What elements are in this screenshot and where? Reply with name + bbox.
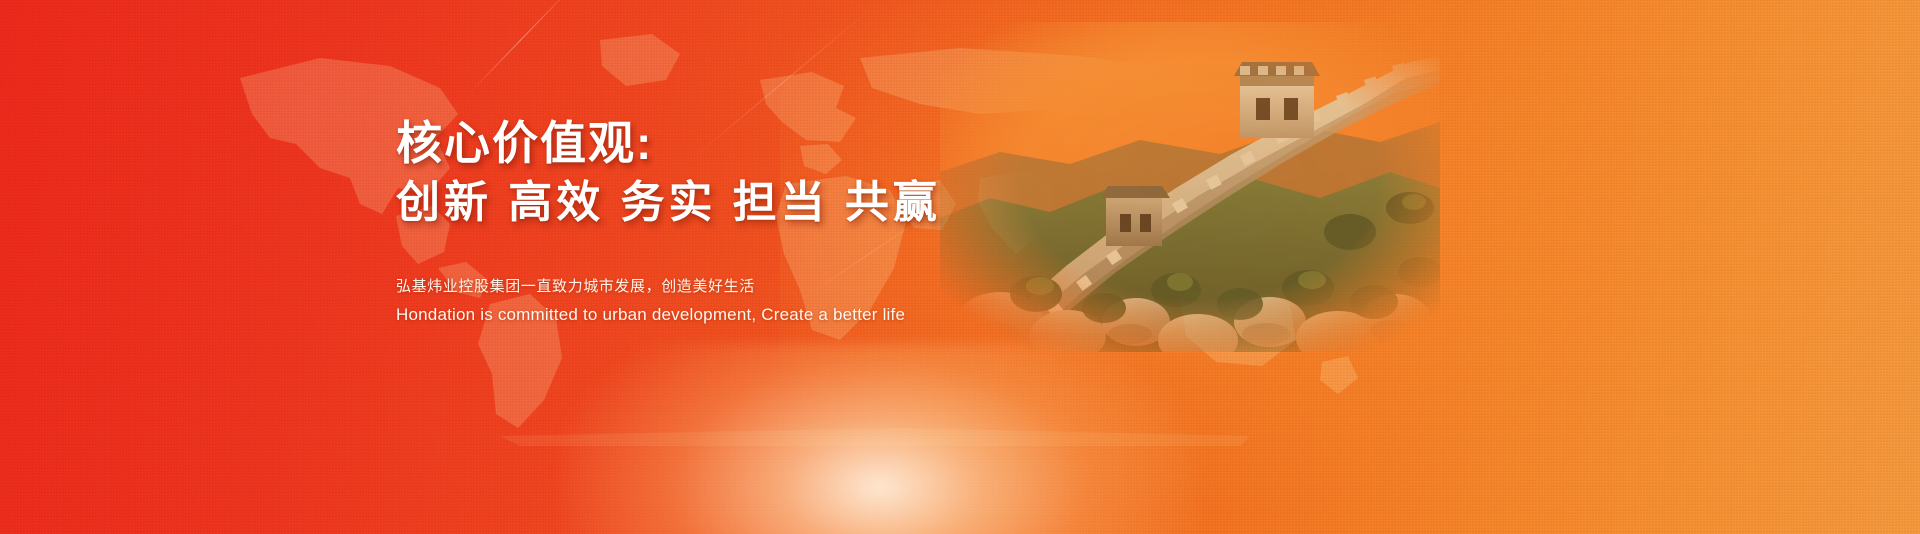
slogan-line: 创新 高效 务实 担当 共赢 — [396, 178, 1156, 227]
light-streak-icon — [470, 0, 575, 93]
hero-banner: 核心价值观: 创新 高效 务实 担当 共赢 弘基炜业控股集团一直致力城市发展，创… — [0, 0, 1920, 534]
subtitle-chinese: 弘基炜业控股集团一直致力城市发展，创造美好生活 — [396, 275, 1156, 296]
banner-text-block: 核心价值观: 创新 高效 务实 担当 共赢 弘基炜业控股集团一直致力城市发展，创… — [396, 118, 1156, 325]
page-title: 核心价值观: — [396, 118, 1156, 170]
light-bloom — [560, 344, 1200, 534]
subtitle-english: Hondation is committed to urban developm… — [396, 305, 1156, 325]
